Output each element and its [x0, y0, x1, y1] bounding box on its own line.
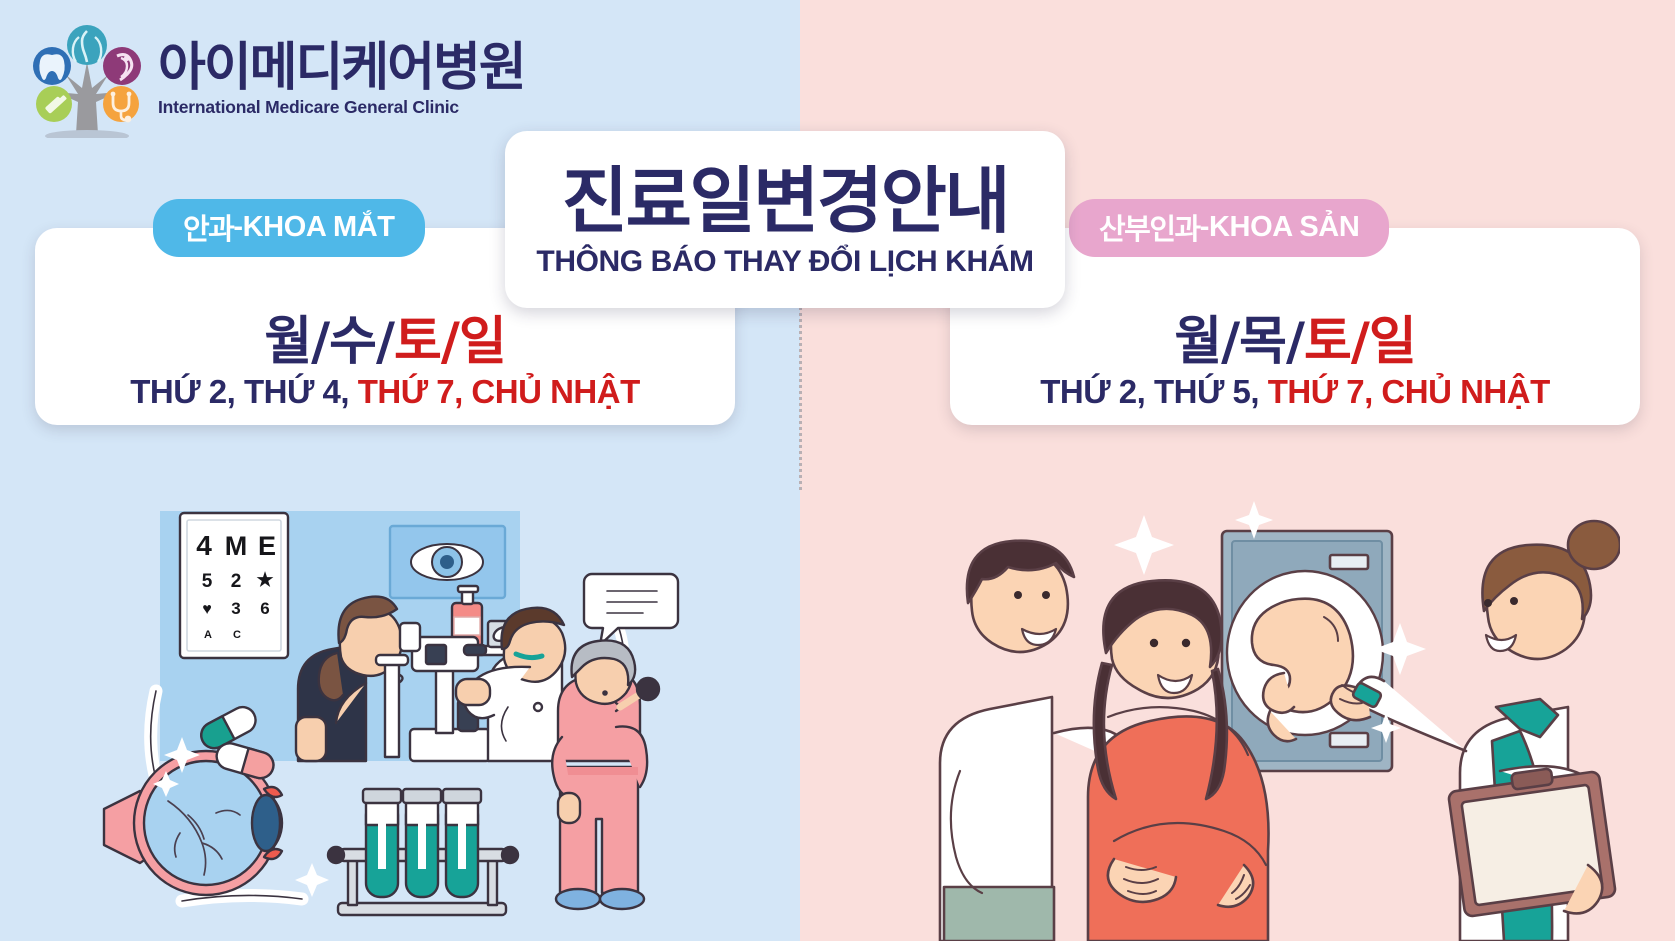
illustration-eye-clinic: 4 M E 5 2 ★ ♥ 3 6 A C	[60, 471, 780, 941]
days-vietnamese-ophthalmology: THỨ 2, THỨ 4, THỨ 7, CHỦ NHẬT	[130, 373, 640, 411]
svg-text:6: 6	[260, 599, 269, 618]
illustration-obstetrics	[900, 471, 1620, 941]
svg-text:5: 5	[202, 571, 213, 592]
days-vietnamese-obstetrics: THỨ 2, THỨ 5, THỨ 7, CHỦ NHẬT	[1040, 373, 1550, 411]
svg-text:C: C	[233, 629, 241, 641]
title-korean: 진료일변경안내	[562, 164, 1008, 239]
days-ko-normal: 월/수/	[264, 312, 394, 372]
badge-separator: -	[233, 211, 242, 244]
logo-tree-mark	[26, 18, 148, 138]
badge-vietnamese-ophthalmology: KHOA MẮT	[243, 211, 395, 244]
days-ko-weekend: 토/일	[1304, 312, 1416, 372]
svg-text:♥: ♥	[202, 601, 212, 618]
svg-text:M: M	[225, 531, 248, 561]
schedule-change-banner: 아이메디케어병원 International Medicare General …	[0, 0, 1675, 941]
svg-text:E: E	[258, 531, 276, 561]
department-badge-obstetrics: 산부인과 - KHOA SẢN	[1069, 199, 1389, 257]
clinic-logo: 아이메디케어병원 International Medicare General …	[26, 18, 525, 138]
svg-text:3: 3	[231, 599, 240, 618]
days-korean-obstetrics: 월/목/토/일	[1174, 314, 1415, 371]
svg-text:★: ★	[256, 570, 273, 591]
svg-text:4: 4	[196, 530, 212, 561]
badge-separator: -	[1200, 211, 1209, 244]
days-vi-weekend: THỨ 7, CHỦ NHẬT	[358, 373, 640, 410]
title-vietnamese: THÔNG BÁO THAY ĐỔI LỊCH KHÁM	[536, 245, 1033, 279]
title-card: 진료일변경안내 THÔNG BÁO THAY ĐỔI LỊCH KHÁM	[505, 131, 1065, 308]
department-badge-ophthalmology: 안과 - KHOA MẮT	[153, 199, 425, 257]
svg-text:2: 2	[231, 571, 242, 592]
days-vi-normal: THỨ 2, THỨ 5,	[1040, 373, 1267, 410]
center-dotted-divider	[799, 300, 802, 490]
days-vi-normal: THỨ 2, THỨ 4,	[130, 373, 357, 410]
logo-korean-name: 아이메디케어병원	[158, 42, 525, 95]
days-korean-ophthalmology: 월/수/토/일	[264, 314, 505, 371]
days-ko-weekend: 토/일	[394, 312, 506, 372]
badge-vietnamese-obstetrics: KHOA SẢN	[1209, 211, 1359, 244]
badge-korean-obstetrics: 산부인과	[1099, 206, 1200, 248]
svg-text:A: A	[204, 629, 212, 641]
days-ko-normal: 월/목/	[1174, 312, 1304, 372]
badge-korean-ophthalmology: 안과	[183, 206, 233, 248]
days-vi-weekend: THỨ 7, CHỦ NHẬT	[1268, 373, 1550, 410]
logo-tagline: International Medicare General Clinic	[158, 97, 525, 118]
